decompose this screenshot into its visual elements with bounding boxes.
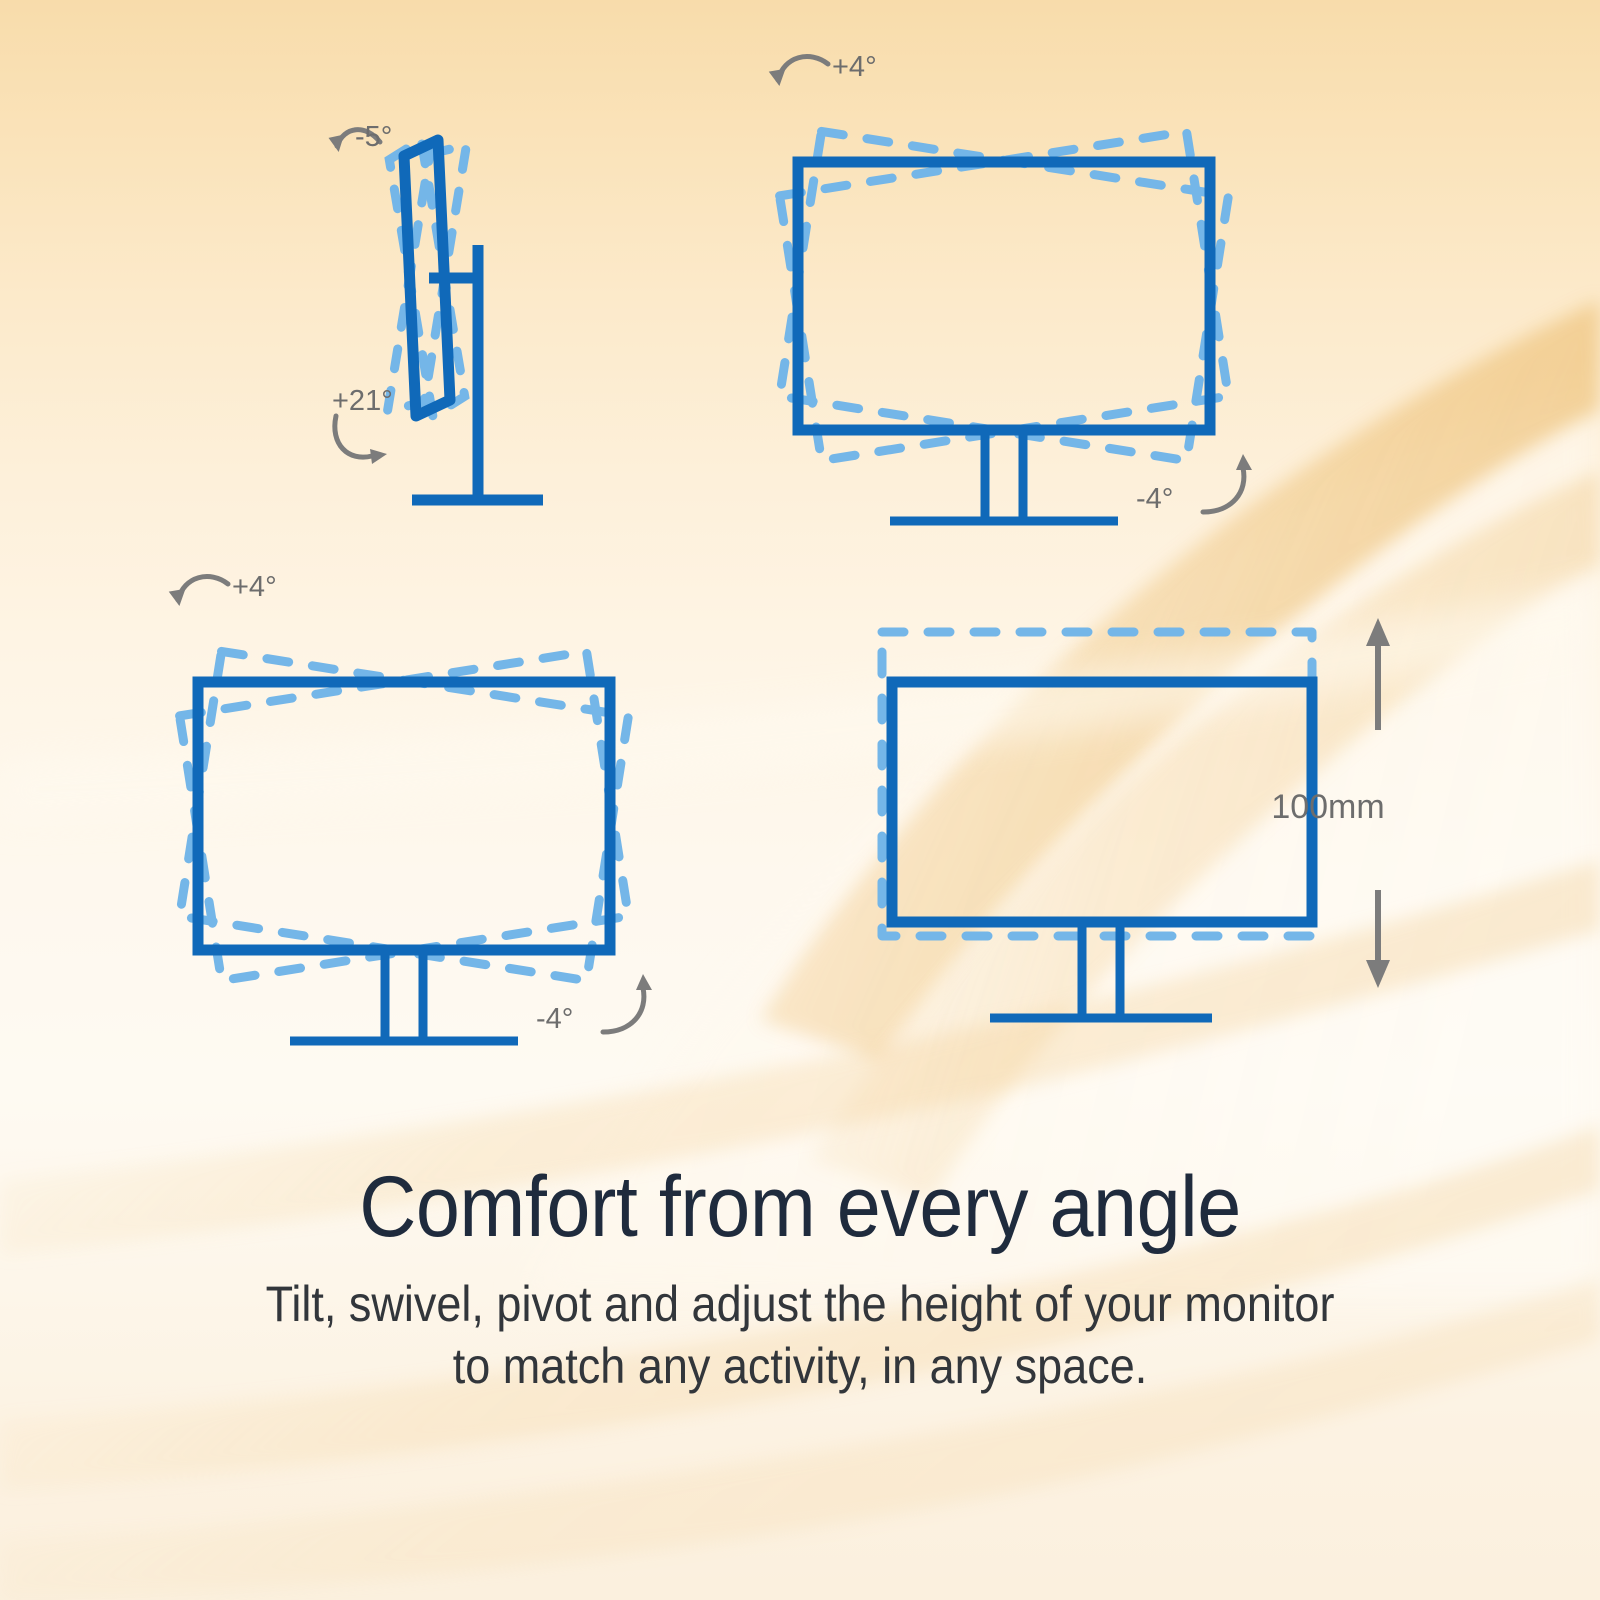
pivot-right-arrow [603,974,652,1032]
subtitle-line-2: to match any activity, in any space. [80,1335,1520,1397]
swivel-ghost-outlines [780,131,1229,460]
subtitle-line-1: Tilt, swivel, pivot and adjust the heigh… [80,1273,1520,1335]
swivel-right-arrow [1203,454,1252,512]
swivel-left-label: +4° [832,51,877,83]
pivot-left-label: +4° [232,571,277,603]
monitor-screen [892,682,1312,922]
tilt-forward-arrow [335,416,387,464]
tilt-back-label: -5° [355,121,392,153]
swivel-diagram: +4° -4° [740,40,1300,550]
tilt-forward-label: +21° [332,385,393,417]
tilt-diagram: -5° +21° [300,80,600,550]
monitor-screen [798,162,1210,430]
height-adjust-diagram: 100mm [850,590,1470,1070]
swivel-right-label: -4° [1136,483,1173,515]
pivot-left-arrow [169,577,228,608]
swivel-left-arrow [769,57,828,88]
caption-block: Comfort from every angle Tilt, swivel, p… [0,1160,1600,1397]
pivot-ghost-outlines [180,651,629,980]
page-title: Comfort from every angle [64,1160,1536,1255]
promo-graphic: -5° +21° [0,0,1600,1600]
monitor-screen [198,682,610,950]
pivot-diagram: +4° -4° [140,560,700,1070]
pivot-right-label: -4° [536,1003,573,1035]
page-subtitle: Tilt, swivel, pivot and adjust the heigh… [80,1273,1520,1397]
height-range-label: 100mm [1271,788,1384,826]
